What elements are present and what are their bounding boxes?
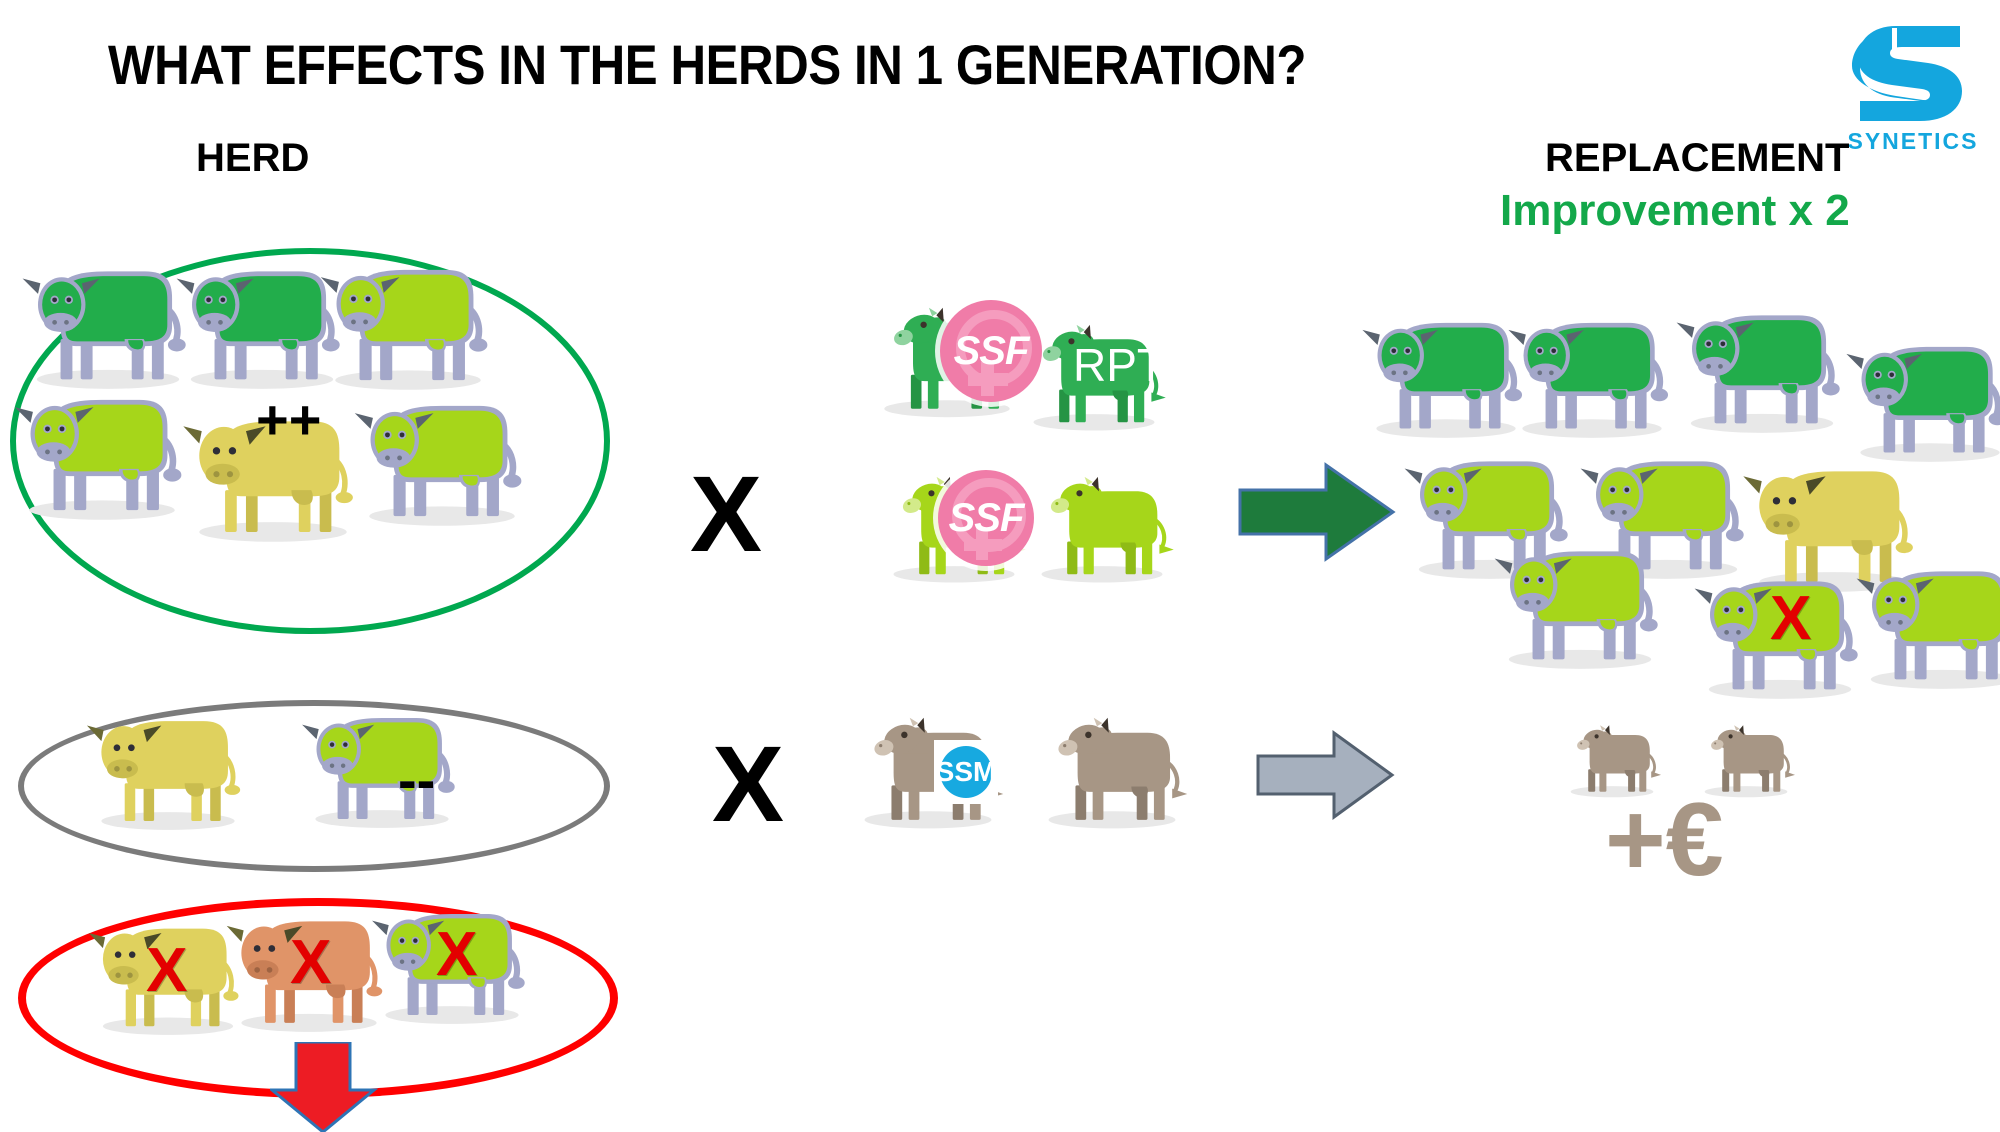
replacement-cow: [1490, 530, 1670, 670]
ssm-badge-male: SSM: [934, 740, 998, 804]
red-cull-arrow-icon: [270, 1042, 380, 1132]
cross-symbol-top: X: [690, 460, 762, 568]
cull-mark-x: X: [436, 924, 477, 986]
rptb-label: RPTB: [1073, 342, 1196, 388]
cow-mark-plus-plus: ++: [256, 392, 321, 448]
herd-cow: [298, 698, 466, 829]
green-result-arrow-icon: [1238, 462, 1398, 562]
herd-cow: [350, 384, 534, 527]
page-title: WHAT EFFECTS IN THE HERDS IN 1 GENERATIO…: [108, 32, 1252, 97]
replacement-cow: [1504, 302, 1680, 439]
herd-cow: [18, 250, 198, 390]
cow-mark-minus-minus: --: [398, 752, 435, 808]
ssf-badge-label: SSF: [949, 496, 1024, 541]
improvement-subheader: Improvement x 2: [1500, 186, 1850, 236]
replacement-column-header: REPLACEMENT: [1545, 136, 1849, 181]
herd-cow: [10, 378, 194, 521]
replacement-cow: [1842, 326, 2000, 463]
cull-mark-x: X: [146, 940, 187, 1002]
cull-mark-x: X: [1770, 588, 1811, 650]
grey-result-arrow-icon: [1256, 730, 1396, 820]
synetics-wordmark: SYNETICS: [1838, 128, 1988, 154]
sire-bull: [1020, 458, 1184, 586]
herd-column-header: HERD: [196, 136, 309, 181]
synetics-s-mark-icon: [1848, 18, 1968, 124]
replacement-cow: [1672, 294, 1852, 434]
beef-sire-bull: [1026, 698, 1198, 832]
cull-mark-x: X: [290, 932, 331, 994]
replacement-cow: [1852, 550, 2000, 690]
herd-cow: [316, 248, 500, 391]
herd-cow: [84, 700, 252, 831]
ssm-badge-label: SSM: [936, 756, 997, 788]
ssf-badge-label: SSF: [954, 329, 1029, 374]
cross-symbol-bottom: X: [712, 730, 784, 838]
beef-value-label: +€: [1605, 788, 1724, 892]
